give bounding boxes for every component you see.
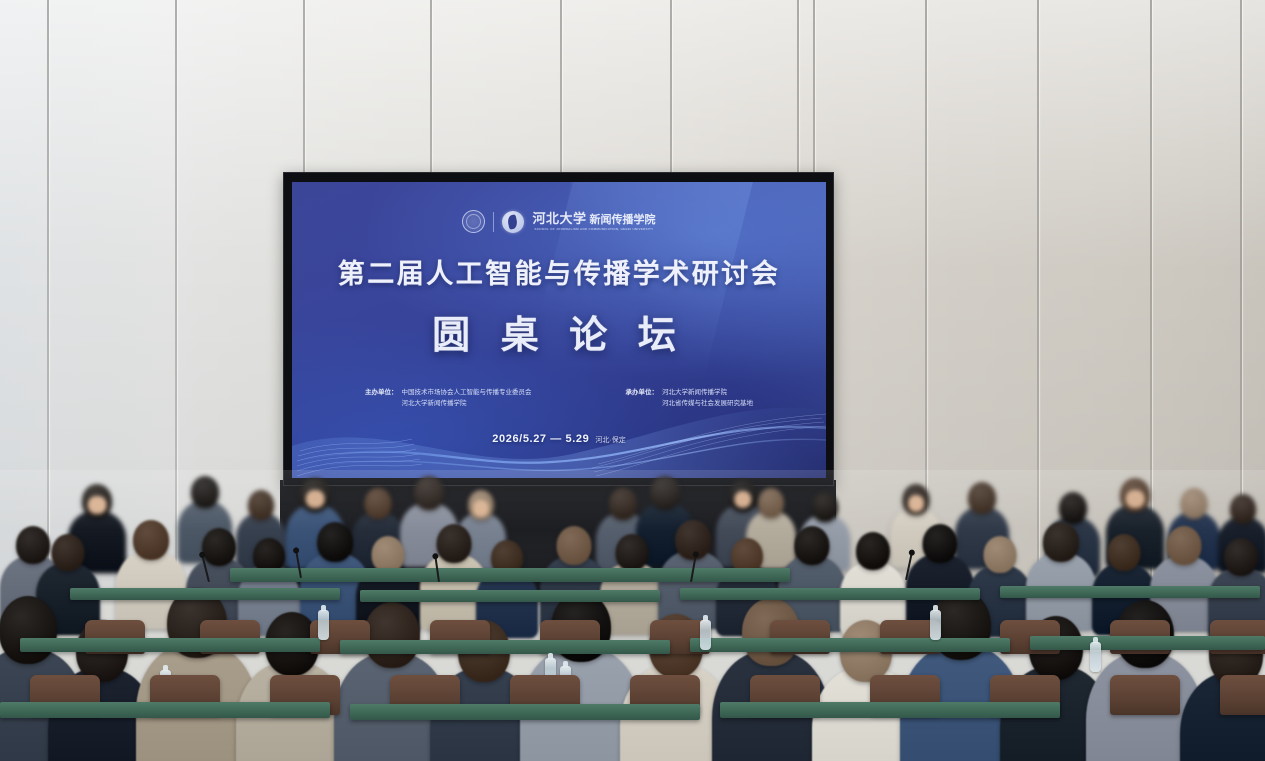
person-head: [364, 602, 420, 668]
slide-subtitle: 圆 桌 论 坛: [292, 304, 826, 359]
audience-desk-row1-mid: [360, 590, 660, 602]
organizer-host: 主办单位： 中国技术市场协会人工智能与传播专业委员会 河北大学新闻传播学院: [365, 387, 532, 409]
person-head: [795, 526, 830, 565]
person-head: [1059, 492, 1087, 524]
person-head: [1167, 526, 1202, 565]
water-bottle-0: [318, 610, 329, 640]
audience-desk-row2-far-right: [1030, 636, 1265, 650]
person-head: [468, 490, 494, 520]
water-bottle-3: [930, 610, 941, 640]
organizer-undertaker-label: 承办单位：: [626, 387, 659, 398]
person-head: [248, 490, 274, 520]
person-head: [1224, 538, 1258, 576]
audience-desk-row1-left: [70, 588, 340, 600]
person-head: [650, 476, 680, 510]
organizer-undertaker-line-1: 河北大学新闻传播学院: [662, 387, 753, 398]
organizer-undertaker-line-2: 河北省传媒与社会发展研究基地: [662, 398, 753, 409]
person-head: [317, 522, 353, 562]
audience-desk-row2-left: [20, 638, 320, 652]
person-head: [365, 488, 392, 519]
person-head: [758, 488, 784, 518]
logo-english-line: SCHOOL OF JOURNALISM AND COMMUNICATION, …: [532, 228, 655, 231]
person-head: [903, 484, 930, 515]
slide-content: 河北大学新闻传播学院 SCHOOL OF JOURNALISM AND COMM…: [292, 182, 826, 478]
person-head: [82, 484, 112, 518]
led-screen-frame: 河北大学新闻传播学院 SCHOOL OF JOURNALISM AND COMM…: [283, 172, 834, 486]
slide-main-title: 第二届人工智能与传播学术研讨会: [292, 252, 826, 291]
audience-chair-row3-10: [1220, 675, 1265, 715]
audience-desk-row2-right: [690, 638, 1010, 652]
organizer-host-lines: 中国技术市场协会人工智能与传播专业委员会 河北大学新闻传播学院: [402, 387, 532, 409]
person-head: [1120, 478, 1150, 512]
person-head: [133, 520, 169, 560]
slide-logo-row: 河北大学新闻传播学院 SCHOOL OF JOURNALISM AND COMM…: [292, 210, 826, 233]
person-face: [473, 500, 489, 517]
audience-desk-row3-right: [720, 702, 1060, 718]
audience-area: [0, 470, 1265, 761]
logo-text-block: 河北大学新闻传播学院 SCHOOL OF JOURNALISM AND COMM…: [532, 212, 655, 231]
person-head: [923, 524, 958, 563]
conference-photo: 河北大学新闻传播学院 SCHOOL OF JOURNALISM AND COMM…: [0, 0, 1265, 761]
slide-date: 2026/5.27 — 5.29: [492, 433, 589, 445]
organizer-host-line-2: 河北大学新闻传播学院: [402, 398, 532, 409]
person-head: [202, 528, 236, 566]
organizer-undertaker: 承办单位： 河北大学新闻传播学院 河北省传媒与社会发展研究基地: [626, 387, 754, 409]
person-head: [1230, 494, 1256, 524]
panel-table: [230, 568, 790, 582]
person-head: [812, 492, 838, 522]
person-face: [88, 496, 107, 515]
audience-desk-row1-right: [680, 588, 980, 600]
person-head: [191, 476, 219, 508]
person-face: [1126, 490, 1145, 509]
audience-chair-row3-9: [1110, 675, 1180, 715]
audience-desk-row2-mid: [340, 640, 670, 654]
slide-place: 河北·保定: [595, 437, 625, 444]
person-head: [984, 536, 1017, 573]
university-name: 河北大学: [532, 211, 586, 226]
organizer-undertaker-lines: 河北大学新闻传播学院 河北省传媒与社会发展研究基地: [662, 387, 753, 409]
person-head: [414, 476, 444, 510]
organizer-host-label: 主办单位：: [365, 387, 398, 398]
school-name: 新闻传播学院: [590, 214, 656, 226]
person-head: [557, 526, 592, 565]
person-head: [609, 488, 637, 520]
slide-date-bar: 2026/5.27 — 5.29河北·保定: [292, 433, 826, 445]
person-face: [908, 495, 925, 512]
person-head: [1043, 522, 1079, 562]
organizer-host-line-1: 中国技术市场协会人工智能与传播专业委员会: [402, 387, 532, 398]
audience-desk-row3-mid: [350, 704, 700, 720]
person-head: [300, 478, 330, 512]
person-head: [856, 532, 890, 570]
person-head: [437, 524, 472, 563]
person-head: [968, 482, 996, 514]
led-screen-display: 河北大学新闻传播学院 SCHOOL OF JOURNALISM AND COMM…: [292, 182, 826, 478]
person-head: [1181, 488, 1208, 519]
person-head: [52, 534, 85, 571]
association-emblem-icon: [462, 210, 485, 233]
water-bottle-2: [700, 620, 711, 650]
water-bottle-4: [1090, 642, 1101, 672]
hebei-university-mark-icon: [502, 211, 524, 233]
person-head: [1108, 534, 1141, 571]
audience-desk-row3-left: [0, 702, 330, 718]
person-face: [306, 490, 325, 509]
logo-divider: [493, 212, 494, 232]
person-head: [616, 534, 649, 571]
audience-desk-row1-far-right: [1000, 586, 1260, 598]
slide-organizers: 主办单位： 中国技术市场协会人工智能与传播专业委员会 河北大学新闻传播学院 承办…: [292, 387, 826, 409]
